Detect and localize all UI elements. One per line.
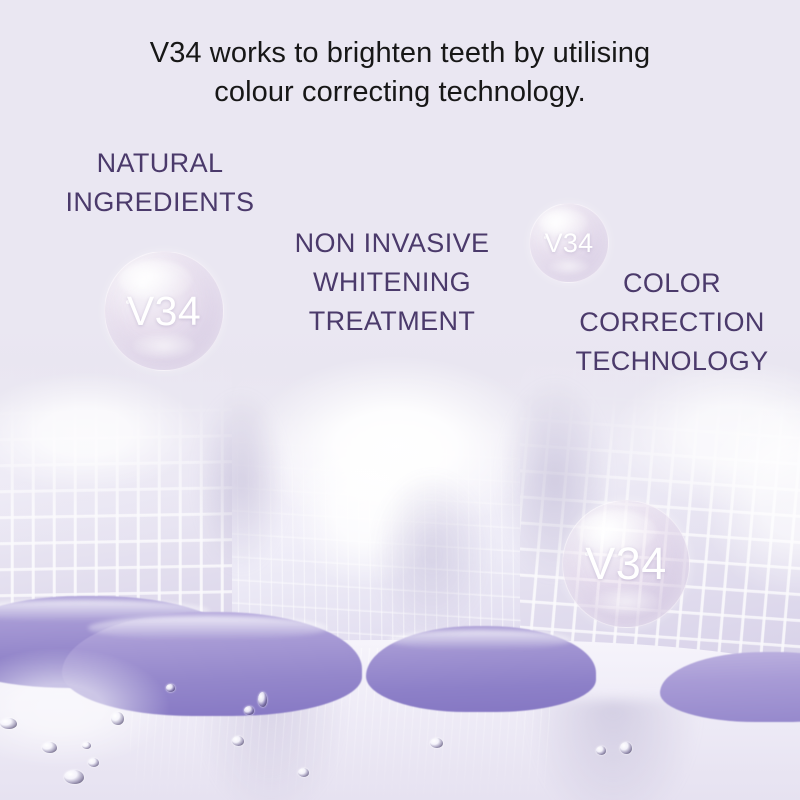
water-droplet-8 [244, 706, 254, 715]
water-droplet-3 [88, 758, 99, 767]
v34-bubble-left: V34 [104, 251, 224, 371]
water-droplet-5 [0, 718, 17, 729]
v34-bubble-label: V34 [545, 228, 594, 259]
water-droplet-9 [258, 692, 267, 707]
v34-bubble-label: V34 [127, 288, 201, 335]
water-droplet-2 [64, 770, 84, 784]
feature-line: NON INVASIVE [272, 224, 512, 263]
feature-line: INGREDIENTS [30, 183, 290, 222]
v34-bubble-bottom-right: V34 [562, 500, 690, 628]
feature-line: TECHNOLOGY [552, 342, 792, 381]
interdental-shadow-left [196, 392, 286, 572]
feature-non-invasive-whitening-treatment: NON INVASIVE WHITENING TREATMENT [272, 224, 512, 341]
water-droplet-6 [111, 712, 124, 725]
water-droplet-13 [620, 742, 632, 754]
feature-line: NATURAL [30, 144, 290, 183]
v34-bubble-label: V34 [585, 538, 666, 590]
feature-line: TREATMENT [272, 302, 512, 341]
water-droplet-10 [298, 768, 309, 777]
water-droplet-4 [82, 742, 91, 749]
feature-color-correction-technology: COLOR CORRECTION TECHNOLOGY [552, 264, 792, 381]
feature-line: CORRECTION [552, 303, 792, 342]
gel-highlight-center [88, 616, 328, 640]
feature-line: WHITENING [272, 263, 512, 302]
headline-line-2: colour correcting technology. [0, 73, 800, 112]
water-droplet-1 [42, 742, 57, 753]
tooth-contour-shadow-center [372, 470, 492, 640]
water-droplet-14 [166, 684, 175, 692]
water-droplet-7 [232, 736, 244, 746]
water-droplet-11 [430, 738, 443, 748]
lower-row-seam-right [528, 700, 698, 800]
headline-line-1: V34 works to brighten teeth by utilising [0, 34, 800, 73]
feature-natural-ingredients: NATURAL INGREDIENTS [30, 144, 290, 222]
product-poster: V34 V34 V34 V34 works to brighten teeth … [0, 0, 800, 800]
feature-line: COLOR [552, 264, 792, 303]
teeth-macro-photograph [0, 0, 800, 800]
water-droplet-12 [596, 746, 606, 755]
headline: V34 works to brighten teeth by utilising… [0, 34, 800, 111]
